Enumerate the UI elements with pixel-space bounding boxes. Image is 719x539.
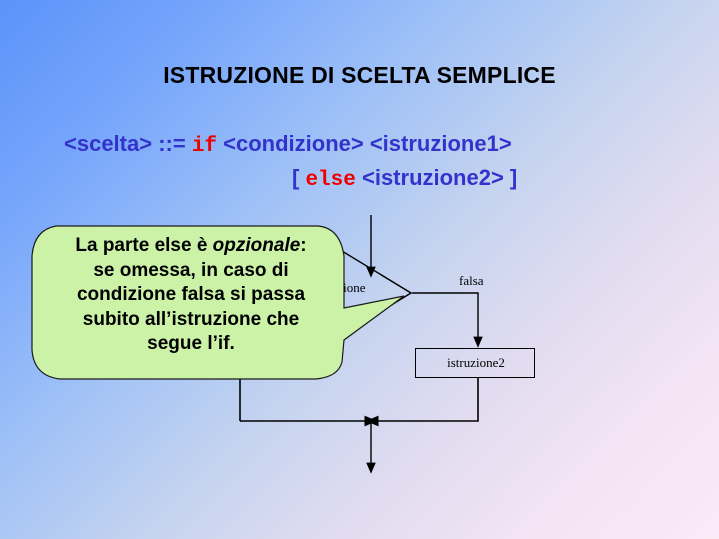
callout-balloon: La parte else è opzionale: se omessa, in… — [26, 220, 408, 385]
callout-line-2: se omessa, in caso di — [46, 259, 336, 284]
process-box-istruzione2: istruzione2 — [415, 348, 535, 378]
callout-line-5: segue l’if. — [46, 332, 336, 357]
connector-false-branch — [412, 293, 478, 338]
callout-line-1: La parte else è opzionale: — [46, 234, 336, 259]
callout-text: La parte else è opzionale: se omessa, in… — [46, 234, 336, 357]
process-box-label: istruzione2 — [416, 355, 536, 371]
callout-emphasis-opzionale: opzionale — [213, 235, 301, 256]
callout-line-1-b: : — [300, 235, 306, 256]
callout-line-4: subito all’istruzione che — [46, 308, 336, 333]
callout-line-1-a: La parte else è — [75, 235, 212, 256]
branch-label-false: falsa — [459, 273, 484, 289]
slide-canvas: ISTRUZIONE DI SCELTA SEMPLICE <scelta> :… — [0, 0, 719, 539]
callout-line-3: condizione falsa si passa — [46, 283, 336, 308]
